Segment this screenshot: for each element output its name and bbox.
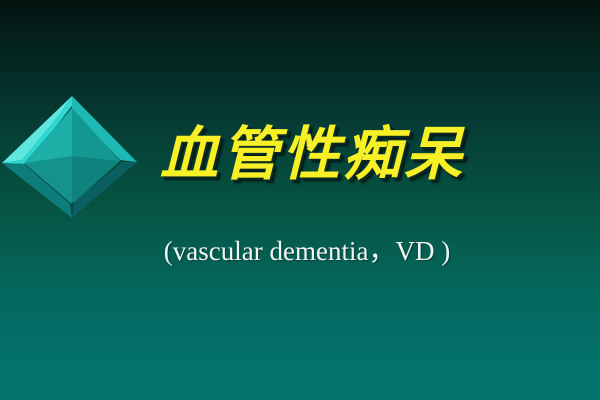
title-slide: 血管性痴呆 (vascular dementia，VD ): [0, 0, 600, 400]
page-subtitle-text: (vascular dementia，VD ): [150, 236, 450, 267]
diamond-bullet-icon: [0, 92, 142, 222]
page-title: 血管性痴呆: [160, 126, 480, 184]
page-subtitle: (vascular dementia，VD ): [0, 236, 600, 267]
